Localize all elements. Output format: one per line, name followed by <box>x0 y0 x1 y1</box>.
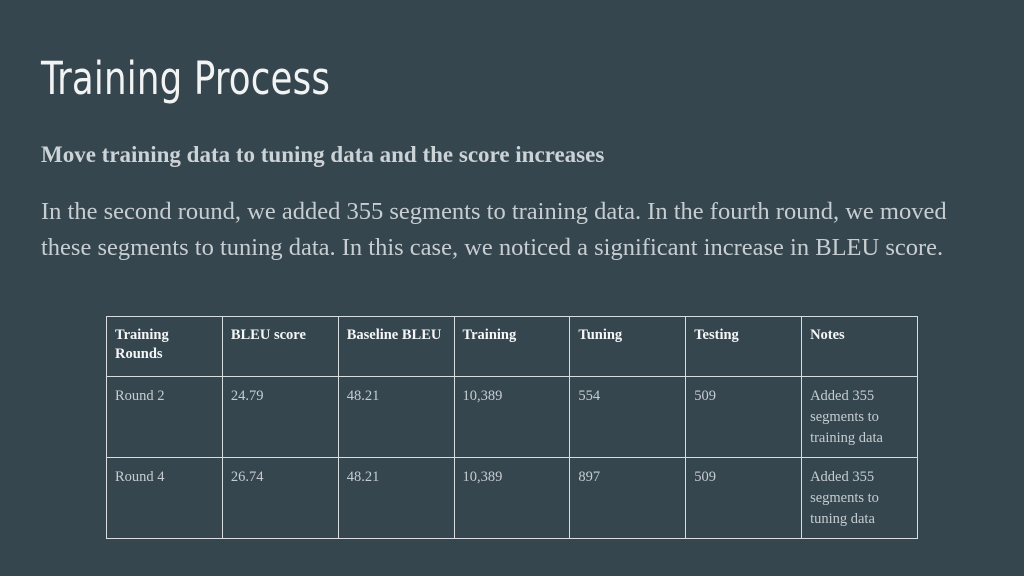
column-header-baseline-bleu: Baseline BLEU <box>338 317 454 377</box>
slide-body-paragraph: In the second round, we added 355 segmen… <box>41 194 971 265</box>
cell-baseline-bleu: 48.21 <box>338 377 454 458</box>
cell-bleu-score: 26.74 <box>222 458 338 539</box>
results-table-container: Training Rounds BLEU score Baseline BLEU… <box>106 316 917 539</box>
column-header-testing: Testing <box>686 317 802 377</box>
cell-training: 10,389 <box>454 458 570 539</box>
cell-training-rounds: Round 2 <box>107 377 223 458</box>
column-header-tuning: Tuning <box>570 317 686 377</box>
cell-notes: Added 355 segments to training data <box>802 377 918 458</box>
slide-canvas: Training Process Move training data to t… <box>0 0 1024 576</box>
table-body: Round 2 24.79 48.21 10,389 554 509 Added… <box>107 377 918 539</box>
cell-notes: Added 355 segments to tuning data <box>802 458 918 539</box>
cell-tuning: 554 <box>570 377 686 458</box>
cell-tuning: 897 <box>570 458 686 539</box>
table-header-row: Training Rounds BLEU score Baseline BLEU… <box>107 317 918 377</box>
column-header-notes: Notes <box>802 317 918 377</box>
slide-subtitle: Move training data to tuning data and th… <box>41 140 604 170</box>
cell-bleu-score: 24.79 <box>222 377 338 458</box>
table-row: Round 2 24.79 48.21 10,389 554 509 Added… <box>107 377 918 458</box>
cell-baseline-bleu: 48.21 <box>338 458 454 539</box>
cell-training: 10,389 <box>454 377 570 458</box>
cell-testing: 509 <box>686 377 802 458</box>
cell-training-rounds: Round 4 <box>107 458 223 539</box>
column-header-bleu-score: BLEU score <box>222 317 338 377</box>
page-title: Training Process <box>41 53 330 105</box>
results-table: Training Rounds BLEU score Baseline BLEU… <box>106 316 918 539</box>
column-header-training: Training <box>454 317 570 377</box>
column-header-training-rounds: Training Rounds <box>107 317 223 377</box>
cell-testing: 509 <box>686 458 802 539</box>
table-header: Training Rounds BLEU score Baseline BLEU… <box>107 317 918 377</box>
table-row: Round 4 26.74 48.21 10,389 897 509 Added… <box>107 458 918 539</box>
